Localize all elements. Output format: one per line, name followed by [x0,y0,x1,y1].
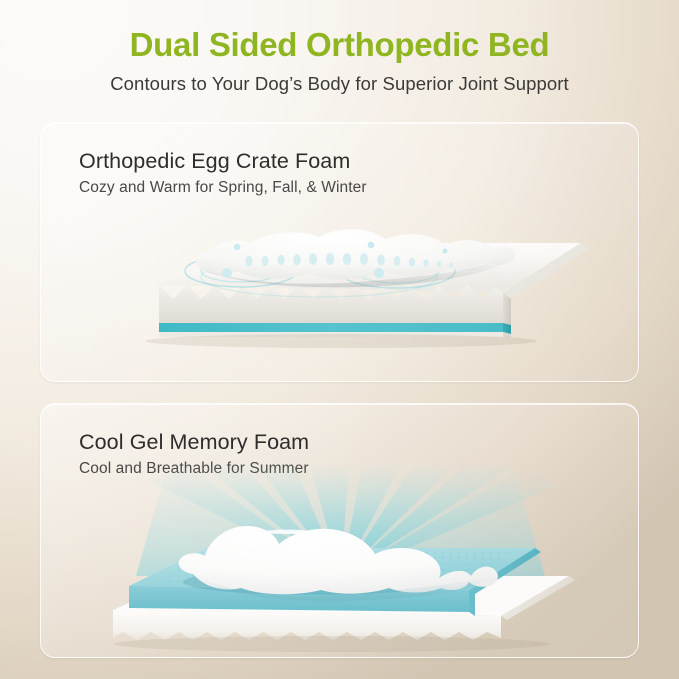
card-subheading-egg-crate: Cozy and Warm for Spring, Fall, & Winter [79,179,367,198]
egg-crate-foam-svg [41,207,639,382]
infographic-page: Dual Sided Orthopedic Bed Contours to Yo… [0,0,679,679]
cool-gel-foam-illustration [41,460,639,658]
egg-crate-foam-illustration [41,207,639,382]
card-heading-egg-crate: Orthopedic Egg Crate Foam [79,149,350,175]
page-subtitle: Contours to Your Dog’s Body for Superior… [0,73,679,95]
slab-ground-shadow [145,334,537,348]
feature-card-egg-crate: Orthopedic Egg Crate Foam Cozy and Warm … [40,122,639,382]
card-heading-gel-foam: Cool Gel Memory Foam [79,430,309,456]
base-ground-shadow [113,636,549,652]
page-title: Dual Sided Orthopedic Bed [0,26,679,64]
header: Dual Sided Orthopedic Bed Contours to Yo… [0,0,679,95]
cool-gel-foam-svg [41,460,639,658]
feature-card-gel-foam: Cool Gel Memory Foam Cool and Breathable… [40,403,639,658]
teal-accent-band [159,323,503,332]
